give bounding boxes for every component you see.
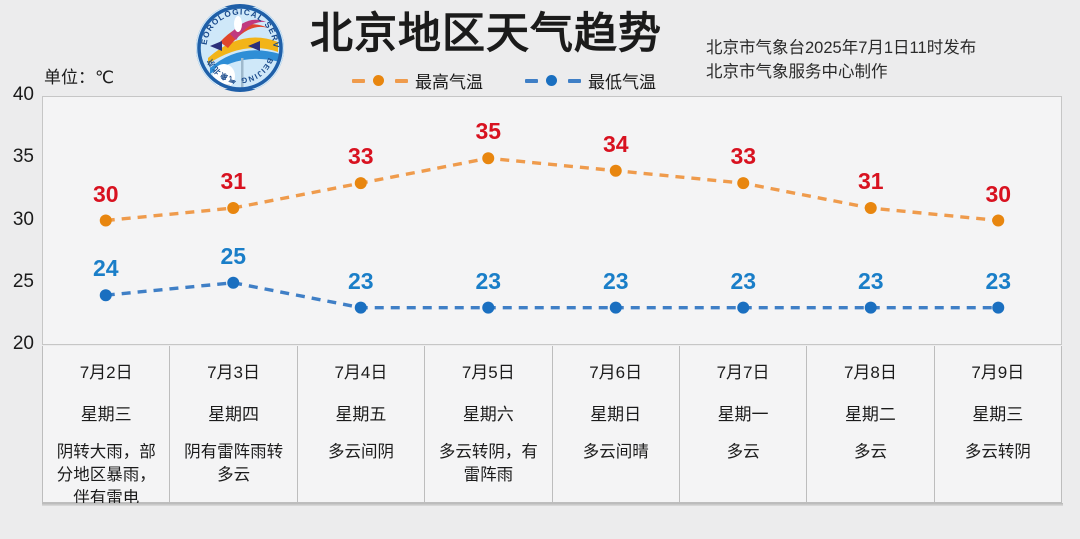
value-label-high: 35 (475, 118, 501, 145)
data-point-marker (355, 302, 367, 314)
data-point-marker (610, 165, 622, 177)
forecast-date: 7月9日 (971, 358, 1024, 383)
legend-marker-low-icon (525, 74, 581, 88)
data-point-marker (865, 302, 877, 314)
value-label-low: 24 (93, 255, 119, 282)
forecast-date: 7月2日 (80, 358, 133, 383)
data-point-marker (737, 177, 749, 189)
beijing-meteorological-service-logo-icon: METEOROLOGICAL SERVICE BEIJING 气象北京 (186, 2, 294, 94)
value-label-low: 23 (475, 268, 501, 295)
y-axis-tick: 35 (2, 146, 34, 168)
plot-series-svg (42, 96, 1062, 345)
forecast-weekday: 星期三 (972, 400, 1023, 425)
table-bottom-shadow (42, 503, 1063, 506)
forecast-weekday: 星期二 (845, 400, 896, 425)
data-point-marker (482, 302, 494, 314)
forecast-condition: 多云 (854, 441, 887, 464)
unit-label: 单位：℃ (44, 63, 114, 88)
forecast-weekday: 星期六 (463, 400, 514, 425)
value-label-high: 33 (348, 143, 374, 170)
data-point-marker (992, 215, 1004, 227)
forecast-date: 7月7日 (717, 358, 770, 383)
value-label-low: 23 (603, 268, 629, 295)
forecast-column: 7月6日星期日多云间晴 (553, 346, 680, 502)
data-point-marker (992, 302, 1004, 314)
forecast-date: 7月5日 (462, 358, 515, 383)
data-point-marker (865, 202, 877, 214)
forecast-column: 7月8日星期二多云 (807, 346, 934, 502)
forecast-weekday: 星期日 (590, 400, 641, 425)
data-point-marker (100, 289, 112, 301)
data-point-marker (227, 202, 239, 214)
forecast-date: 7月4日 (334, 358, 387, 383)
chart-legend: 最高气温 最低气温 (352, 68, 656, 93)
forecast-weekday: 星期三 (81, 400, 132, 425)
forecast-condition: 多云转阴，有雷阵雨 (431, 441, 545, 487)
value-label-low: 23 (348, 268, 374, 295)
forecast-weekday: 星期一 (718, 400, 769, 425)
value-label-high: 33 (730, 143, 756, 170)
legend-label-low: 最低气温 (588, 68, 656, 93)
y-axis-tick: 40 (2, 84, 34, 106)
page-title: 北京地区天气趋势 (310, 8, 662, 60)
forecast-column: 7月5日星期六多云转阴，有雷阵雨 (425, 346, 552, 502)
forecast-column: 7月7日星期一多云 (680, 346, 807, 502)
weather-trend-infographic: METEOROLOGICAL SERVICE BEIJING 气象北京 北京地区… (0, 0, 1080, 539)
legend-item-low: 最低气温 (525, 68, 656, 93)
data-point-marker (355, 177, 367, 189)
value-label-high: 34 (603, 131, 629, 158)
value-label-low: 23 (985, 268, 1011, 295)
header: METEOROLOGICAL SERVICE BEIJING 气象北京 北京地区… (0, 0, 1080, 96)
data-point-marker (227, 277, 239, 289)
data-point-marker (482, 152, 494, 164)
forecast-condition: 多云间阴 (328, 441, 394, 464)
issuer-line-2: 北京市气象服务中心制作 (706, 60, 976, 84)
forecast-condition: 多云 (727, 441, 760, 464)
value-label-low: 25 (220, 243, 246, 270)
forecast-date: 7月6日 (589, 358, 642, 383)
forecast-condition: 阴有雷阵雨转多云 (176, 441, 290, 487)
forecast-weekday: 星期五 (335, 400, 386, 425)
forecast-condition: 阴转大雨，部分地区暴雨，伴有雷电 (49, 441, 163, 510)
legend-label-high: 最高气温 (415, 68, 483, 93)
value-label-high: 31 (220, 168, 246, 195)
forecast-date: 7月8日 (844, 358, 897, 383)
data-point-marker (737, 302, 749, 314)
y-axis-tick: 30 (2, 209, 34, 231)
value-label-low: 23 (858, 268, 884, 295)
issuer-line-1: 北京市气象台2025年7月1日11时发布 (706, 36, 976, 60)
data-point-marker (610, 302, 622, 314)
forecast-table: 7月2日星期三阴转大雨，部分地区暴雨，伴有雷电7月3日星期四阴有雷阵雨转多云7月… (42, 346, 1062, 503)
data-point-marker (100, 215, 112, 227)
y-axis-tick: 25 (2, 271, 34, 293)
y-axis-tick: 20 (2, 333, 34, 355)
forecast-weekday: 星期四 (208, 400, 259, 425)
forecast-column: 7月4日星期五多云间阴 (298, 346, 425, 502)
value-label-high: 30 (93, 181, 119, 208)
issuer-info: 北京市气象台2025年7月1日11时发布 北京市气象服务中心制作 (706, 36, 976, 84)
forecast-column: 7月9日星期三多云转阴 (935, 346, 1061, 502)
temperature-line-chart: 30313335343331302425232323232323 (42, 96, 1062, 345)
forecast-date: 7月3日 (207, 358, 260, 383)
forecast-condition: 多云间晴 (583, 441, 649, 464)
forecast-column: 7月2日星期三阴转大雨，部分地区暴雨，伴有雷电 (43, 346, 170, 502)
value-label-high: 31 (858, 168, 884, 195)
value-label-high: 30 (985, 181, 1011, 208)
forecast-condition: 多云转阴 (965, 441, 1031, 464)
forecast-column: 7月3日星期四阴有雷阵雨转多云 (170, 346, 297, 502)
legend-marker-high-icon (352, 74, 408, 88)
legend-item-high: 最高气温 (352, 68, 483, 93)
value-label-low: 23 (730, 268, 756, 295)
